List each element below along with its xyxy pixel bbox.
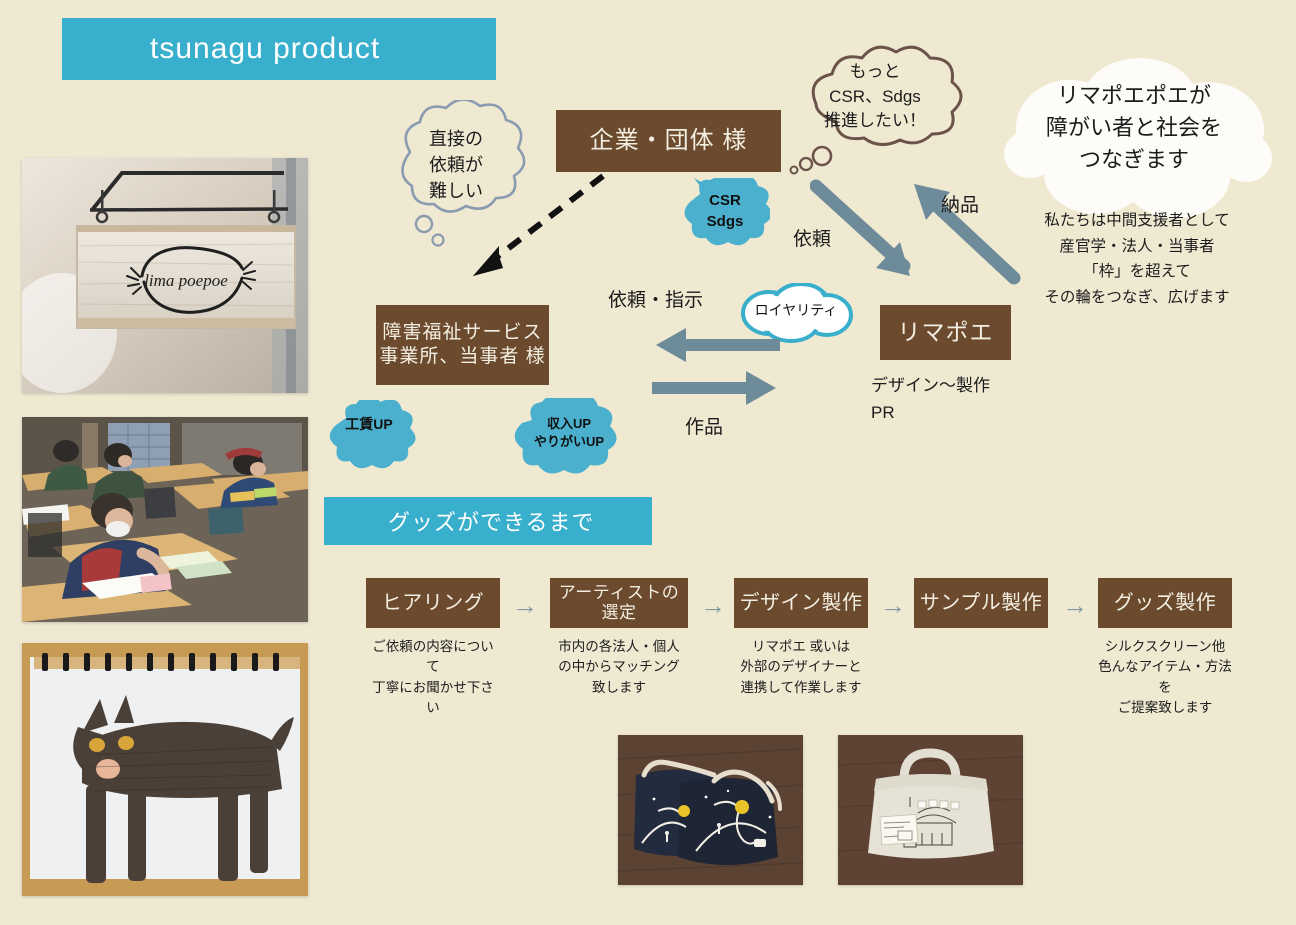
flow-step-4: サンプル製作 <box>914 578 1048 637</box>
flow-arrow-3: → <box>880 592 906 618</box>
box-company: 企業・団体 様 <box>556 110 781 172</box>
flow-section-banner: グッズができるまで <box>324 497 652 545</box>
label-request: 依頼 <box>793 224 831 251</box>
label-artwork: 作品 <box>685 412 723 439</box>
blob-wage-up <box>326 400 416 478</box>
page-title: tsunagu product <box>150 32 380 66</box>
navy-drawstring-pouches-photo <box>618 735 803 885</box>
thought-cloud-csr-promote-text: もっと CSR、Sdgs 推進したい！ <box>800 60 950 134</box>
page-title-banner: tsunagu product <box>62 18 496 80</box>
blob-income-up-text: 収入UP やりがいUP <box>520 415 618 451</box>
flow-step-4-title: サンプル製作 <box>914 578 1048 628</box>
box-rimapoe: リマポエ <box>880 305 1011 360</box>
flow-step-1-desc: ご依頼の内容について 丁寧にお聞かせ下さい <box>366 637 500 718</box>
arrow-artwork <box>650 368 780 408</box>
flow-arrow-4: → <box>1062 592 1088 618</box>
flow-step-5-desc: シルクスクリーン他 色んなアイテム・方法を ご提案致します <box>1098 637 1232 718</box>
flow-step-3-desc: リマポエ 或いは 外部のデザイナーと 連携して作業します <box>734 637 868 698</box>
blob-wage-up-text: 工賃UP <box>332 415 406 435</box>
flow-step-1-title: ヒアリング <box>366 578 500 628</box>
label-request-instruction: 依頼・指示 <box>608 285 703 312</box>
arrow-request-instruction <box>652 325 782 365</box>
rimapoe-subtext: デザイン～製作 PR <box>871 372 1041 426</box>
flow-arrow-1: → <box>512 592 538 618</box>
royalty-cloud-text: ロイヤリティ <box>744 300 848 320</box>
dashed-arrow-company-to-welfare <box>455 168 615 288</box>
flow-step-5-title: グッズ製作 <box>1098 578 1232 628</box>
infographic-page: tsunagu product <box>0 0 1296 925</box>
svg-text:lima poepoe: lima poepoe <box>144 271 228 290</box>
workshop-participants-photo <box>22 417 308 622</box>
flow-step-3-title: デザイン製作 <box>734 578 868 628</box>
mission-cloud-text: リマポエポエが 障がい者と社会を つなぎます <box>1023 80 1245 176</box>
flow-arrow-2: → <box>700 592 726 618</box>
mission-description: 私たちは中間支援者として 産官学・法人・当事者 「枠」を超えて その輪をつなぎ、… <box>1018 208 1256 310</box>
flow-step-3: デザイン製作 リマポエ 或いは 外部のデザイナーと 連携して作業します <box>734 578 868 698</box>
flow-section-title: グッズができるまで <box>388 505 595 537</box>
child-dog-drawing-photo <box>22 643 308 896</box>
canvas-tote-bag-photo <box>838 735 1023 885</box>
flow-step-1: ヒアリング ご依頼の内容について 丁寧にお聞かせ下さい <box>366 578 500 718</box>
box-welfare-service: 障害福祉サービス 事業所、当事者 様 <box>376 305 549 385</box>
flow-step-5: グッズ製作 シルクスクリーン他 色んなアイテム・方法を ご提案致します <box>1098 578 1232 718</box>
blob-csr-sdgs-text: CSR Sdgs <box>692 190 758 232</box>
flow-step-2-desc: 市内の各法人・個人 の中からマッチング 致します <box>550 637 688 698</box>
label-delivery: 納品 <box>941 190 979 217</box>
flow-step-2-title: アーティストの 選定 <box>550 578 688 628</box>
flow-step-2: アーティストの 選定 市内の各法人・個人 の中からマッチング 致します <box>550 578 688 698</box>
wooden-shop-sign-photo: lima poepoe <box>22 158 308 393</box>
